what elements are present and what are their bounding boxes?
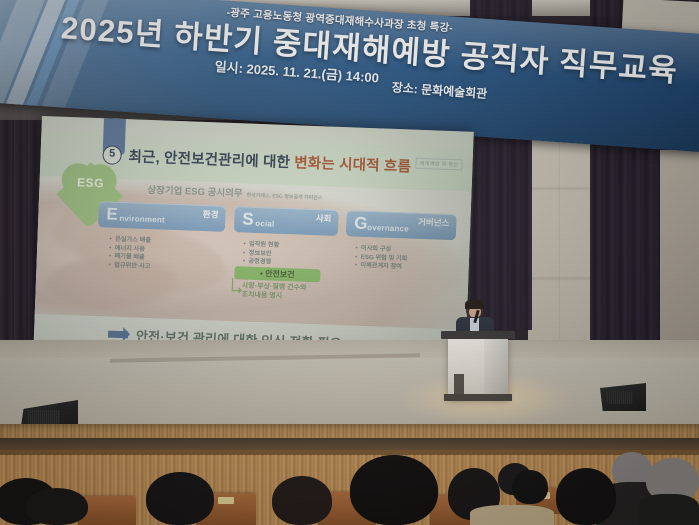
- podium-shelf-slot: [454, 374, 464, 394]
- elbow-arrow-icon: [232, 278, 242, 291]
- esg-column-social: S ocial 사회: [234, 206, 339, 236]
- esg-bullets-governance: • 이사회 구성 • ESG 위험 및 기회 • 이해관계자 참여: [355, 245, 408, 273]
- esg-column-environment: E nvironment 환경: [98, 201, 226, 232]
- esg-bullets-social: • 임직원 현황 • 정보보안 • 공정경쟁: [243, 240, 280, 267]
- esg-bullets-environment: • 온실가스 배출 • 에너지 사용 • 폐기물 배출 • 법규위반·사고: [108, 236, 151, 272]
- esg-word-social: ocial: [255, 219, 275, 229]
- wall-panel-right: [660, 150, 699, 340]
- esg-korean-governance: 거버넌스: [418, 216, 450, 229]
- slide-corner-tag: 재해예방 및 확산: [416, 158, 463, 171]
- audience-shoulders: [470, 505, 554, 525]
- audience-head: [272, 476, 332, 525]
- audience-head: [146, 472, 214, 525]
- safety-highlight-label: • 안전보건: [234, 267, 320, 281]
- audience-head: [350, 455, 438, 525]
- esg-letter-s: S: [242, 209, 254, 229]
- audience-head: [512, 470, 548, 504]
- slide-subheading-note: 한국거래소, ESG 정보공개 가이던스: [246, 193, 322, 202]
- podium-top-surface: [441, 331, 515, 339]
- esg-korean-environment: 환경: [203, 208, 219, 221]
- esg-column-governance: G overnance 거버넌스: [346, 210, 457, 240]
- podium-base: [444, 394, 512, 401]
- projection-screen: 5 최근, 안전보건관리에 대한 변화는 시대적 흐름 재해예방 및 확산 ES…: [33, 116, 473, 367]
- podium: [448, 336, 508, 398]
- esg-korean-social: 사회: [316, 212, 332, 225]
- esg-letter-g: G: [354, 214, 368, 234]
- right-arrow-icon: [108, 331, 128, 339]
- audience-head: [26, 488, 88, 525]
- esg-heart-label: ESG: [61, 175, 119, 191]
- slide-title-accent: 변화는 시대적 흐름: [294, 155, 411, 175]
- presenter-hair: [465, 299, 484, 309]
- safety-highlight-note: 사망·부상·질병 건수와 조치내용 명시: [241, 281, 306, 301]
- podium-side-shadow: [484, 339, 508, 398]
- lecture-hall-photo: -광주 고용노동청 광역중대재해수사과장 초청 특강- 2025년 하반기 중대…: [0, 0, 699, 525]
- audience-shoulders: [638, 494, 699, 525]
- esg-word-environment: nvironment: [119, 214, 165, 225]
- esg-word-governance: overnance: [367, 223, 409, 234]
- esg-letter-e: E: [106, 204, 118, 224]
- audience-head: [556, 468, 616, 525]
